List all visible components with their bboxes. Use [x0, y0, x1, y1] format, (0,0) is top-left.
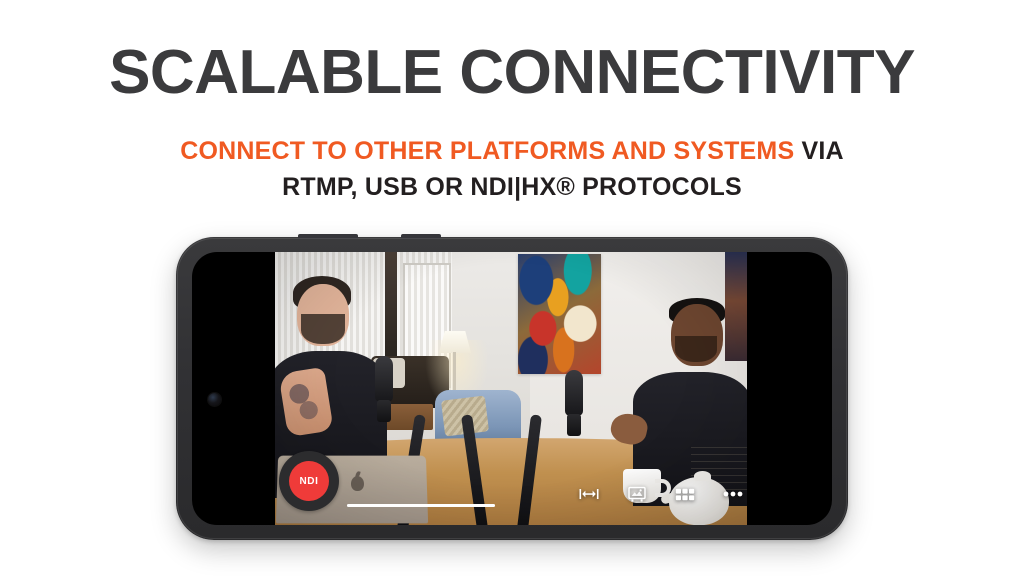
abstract-painting — [518, 254, 601, 374]
phone-screen: NDI — [192, 252, 832, 525]
subtitle: CONNECT TO OTHER PLATFORMS AND SYSTEMS V… — [0, 134, 1024, 205]
fit-width-icon[interactable] — [579, 485, 599, 503]
microphone-left — [375, 356, 393, 402]
playback-progress-fill — [347, 504, 495, 507]
playback-progress-bar[interactable] — [347, 504, 495, 507]
grid-layout-icon[interactable] — [675, 485, 695, 503]
microphone-left-base — [377, 400, 391, 422]
power-button[interactable] — [401, 234, 441, 239]
video-control-bar — [579, 485, 743, 503]
subtitle-accent-text: CONNECT TO OTHER PLATFORMS AND SYSTEMS — [180, 137, 794, 165]
subtitle-line-1-rest: VIA — [794, 137, 843, 165]
smartphone-device: NDI — [176, 237, 848, 540]
apple-logo-icon — [351, 476, 364, 491]
ndi-record-button[interactable]: NDI — [279, 451, 339, 511]
slide-canvas: SCALABLE CONNECTIVITY CONNECT TO OTHER P… — [0, 0, 1024, 576]
ndi-button-label: NDI — [299, 476, 318, 487]
ndi-record-indicator: NDI — [289, 461, 329, 501]
more-options-icon[interactable] — [723, 485, 743, 503]
page-title: SCALABLE CONNECTIVITY — [0, 42, 1024, 104]
person-left-beard — [301, 314, 345, 344]
headline-block: SCALABLE CONNECTIVITY CONNECT TO OTHER P… — [0, 42, 1024, 205]
subtitle-line-2: RTMP, USB OR NDI|HX® PROTOCOLS — [0, 170, 1024, 206]
front-camera-icon — [208, 393, 221, 406]
microphone-right-base — [567, 414, 581, 436]
screen-share-icon[interactable] — [627, 485, 647, 503]
teapot-lid — [694, 471, 711, 481]
volume-rocker-button[interactable] — [298, 234, 358, 239]
microphone-right — [565, 370, 583, 416]
video-preview[interactable]: NDI — [275, 252, 747, 525]
subtitle-line-1: CONNECT TO OTHER PLATFORMS AND SYSTEMS V… — [0, 134, 1024, 170]
person-right-beard — [675, 336, 717, 362]
